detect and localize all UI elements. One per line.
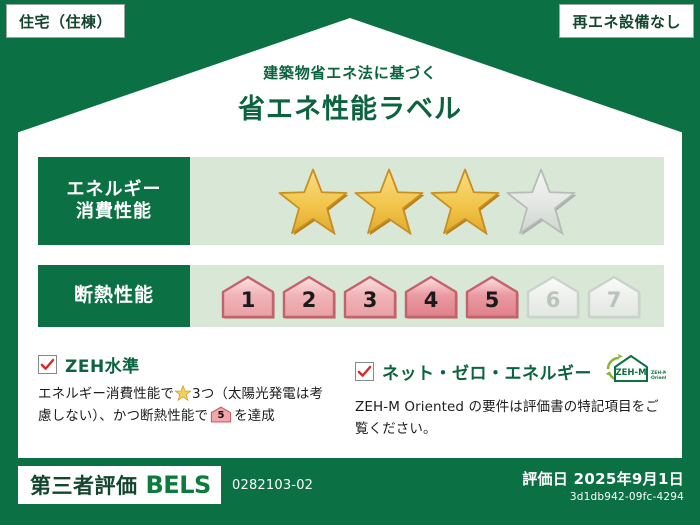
insulation-level-1: 1: [219, 273, 277, 319]
energy-label-line2: 消費性能: [76, 201, 152, 224]
net-zero-description: ZEH-M Oriented の要件は評価書の特記項目をご覧ください。: [355, 397, 666, 441]
header-subtitle: 建築物省エネ法に基づく: [0, 62, 700, 83]
insulation-level-value: 3: [363, 290, 378, 319]
star-filled-icon: [278, 167, 348, 235]
insulation-level-2: 2: [280, 273, 338, 319]
insulation-level-value: 5: [485, 290, 500, 319]
insulation-performance-row: 断熱性能 1234567: [38, 265, 664, 327]
inline-star-icon: [175, 385, 191, 401]
star-body: [507, 170, 574, 234]
insulation-label-text: 断熱性能: [74, 284, 154, 308]
bels-logo-text: BELS: [146, 471, 211, 499]
evaluation-date: 評価日 2025年9月1日: [522, 468, 684, 489]
insulation-level-5: 5: [463, 273, 521, 319]
star-filled-icon: [354, 167, 424, 235]
evaluation-id: 3d1db942-09fc-4294: [522, 491, 684, 503]
insulation-level-6: 6: [524, 273, 582, 319]
zeh-standard-column: ZEH水準 エネルギー消費性能で3つ（太陽光発電は考慮しない）、かつ断熱性能で5…: [38, 352, 333, 441]
energy-performance-label: 住宅（住棟） 再エネ設備なし 建築物省エネ法に基づく 省エネ性能ラベル エネルギ…: [0, 0, 700, 525]
energy-performance-row: エネルギー 消費性能: [38, 157, 664, 245]
footer-bar: 第三者評価 BELS 0282103-02 評価日 2025年9月1日 3d1d…: [0, 458, 700, 525]
inline-badge-value: 5: [210, 406, 232, 423]
check-icon: [357, 364, 372, 379]
net-zero-checkbox[interactable]: [355, 362, 374, 381]
insulation-level-7: 7: [585, 273, 643, 319]
net-zero-energy-column: ネット・ゼロ・エネルギー ZEH-M ZEH-M Oriented ZEH-M …: [355, 352, 666, 441]
star-body: [431, 170, 498, 234]
insulation-level-value: 2: [302, 290, 317, 319]
bels-certificate-number: 0282103-02: [232, 478, 313, 493]
insulation-level-4: 4: [402, 273, 460, 319]
svg-text:ZEH-M: ZEH-M: [615, 368, 646, 378]
insulation-level-3: 3: [341, 273, 399, 319]
star-empty-icon: [506, 167, 576, 235]
net-zero-heading: ネット・ゼロ・エネルギー ZEH-M ZEH-M Oriented: [355, 352, 666, 390]
insulation-level-value: 6: [546, 290, 561, 319]
evaluation-info: 評価日 2025年9月1日 3d1db942-09fc-4294: [522, 468, 684, 503]
insulation-level-scale: 1234567: [190, 265, 664, 327]
header-block: 建築物省エネ法に基づく 省エネ性能ラベル: [0, 62, 700, 126]
bels-japanese-label: 第三者評価: [30, 470, 138, 500]
inline-insulation-badge: 5: [210, 406, 232, 423]
energy-label-line1: エネルギー: [67, 179, 162, 202]
insulation-level-value: 7: [607, 290, 622, 319]
energy-performance-label: エネルギー 消費性能: [38, 157, 190, 245]
zeh-title: ZEH水準: [65, 352, 140, 377]
svg-text:Oriented: Oriented: [651, 375, 666, 381]
star-body: [355, 170, 422, 234]
zeh-text-part3: を達成: [234, 408, 275, 424]
star-filled-icon: [430, 167, 500, 235]
zeh-text-part1: エネルギー消費性能で: [38, 386, 174, 402]
zeh-m-logo-icon: ZEH-M ZEH-M Oriented: [604, 352, 666, 386]
insulation-level-value: 4: [424, 290, 439, 319]
zeh-description: エネルギー消費性能で3つ（太陽光発電は考慮しない）、かつ断熱性能で5を達成: [38, 384, 333, 428]
zeh-checkbox[interactable]: [38, 355, 57, 374]
insulation-level-value: 1: [241, 290, 256, 319]
renewable-equipment-tab: 再エネ設備なし: [559, 4, 694, 38]
zeh-heading: ZEH水準: [38, 352, 333, 377]
net-zero-title: ネット・ゼロ・エネルギー: [382, 359, 592, 384]
building-type-tab: 住宅（住棟）: [6, 4, 125, 38]
page-title: 省エネ性能ラベル: [0, 87, 700, 126]
svg-text:ZEH-M: ZEH-M: [651, 370, 666, 376]
star-body: [279, 170, 346, 234]
insulation-performance-label: 断熱性能: [38, 265, 190, 327]
star-rating: [190, 157, 664, 245]
bels-badge: 第三者評価 BELS: [18, 466, 221, 504]
criteria-section: ZEH水準 エネルギー消費性能で3つ（太陽光発電は考慮しない）、かつ断熱性能で5…: [38, 352, 666, 441]
zeh-m-logo: ZEH-M ZEH-M Oriented: [604, 352, 666, 390]
check-icon: [40, 357, 55, 372]
